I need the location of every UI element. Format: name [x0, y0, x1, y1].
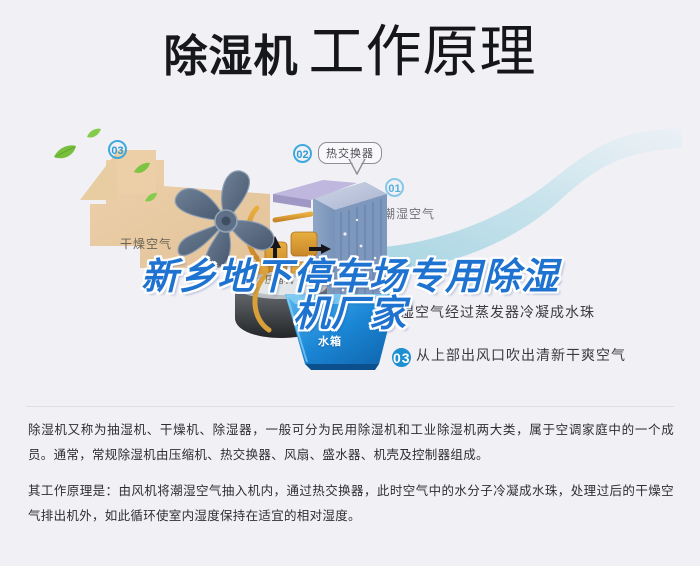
- dry-air-label: 干燥空气: [120, 235, 172, 252]
- page-title: 除湿机工作原理: [0, 24, 700, 80]
- water-tank-label: 水箱: [318, 333, 342, 349]
- leaf-icon: [144, 192, 158, 204]
- body-paragraph-2: 其工作原理是：由风机将潮湿空气抽入机内，通过热交换器，此时空气中的水分子冷凝成水…: [28, 479, 674, 530]
- compressor-label: 压缩机: [265, 273, 294, 286]
- title-primary: 除湿机: [164, 32, 299, 81]
- body-paragraph-1: 除湿机又称为抽湿机、干燥机、除湿器，一般可分为民用除湿机和工业除湿机两大类，属于…: [28, 418, 674, 469]
- section-divider: [26, 406, 674, 407]
- step-caption-3: 从上部出风口吹出清新干爽空气: [416, 345, 626, 365]
- poster-root: 除湿机工作原理: [0, 0, 700, 566]
- leaf-icon: [133, 162, 151, 176]
- leaf-icon: [52, 144, 78, 162]
- leaf-icon: [86, 128, 102, 140]
- title-secondary: 工作原理: [309, 20, 537, 83]
- badge-step-03-caption: 03: [392, 348, 411, 367]
- badge-step-03-diagram: 03: [108, 140, 127, 159]
- step-caption-2: 潮湿空气经过蒸发器冷凝成水珠: [385, 302, 595, 322]
- body-text: 除湿机又称为抽湿机、干燥机、除湿器，一般可分为民用除湿机和工业除湿机两大类，属于…: [28, 418, 674, 529]
